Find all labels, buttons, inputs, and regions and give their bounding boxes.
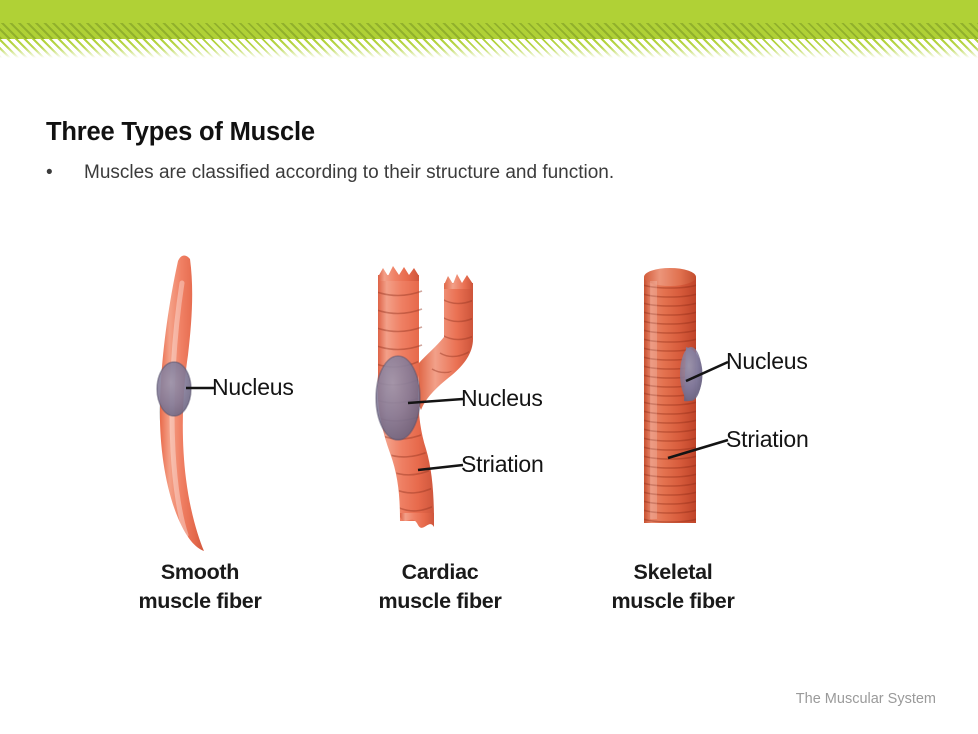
caption-skeletal-line2: muscle fiber bbox=[543, 587, 803, 616]
caption-cardiac-line1: Cardiac bbox=[310, 558, 570, 587]
caption-skeletal: Skeletal muscle fiber bbox=[543, 558, 803, 616]
caption-skeletal-line1: Skeletal bbox=[543, 558, 803, 587]
slide-footer-label: The Muscular System bbox=[796, 691, 936, 707]
cardiac-wavy-bottom bbox=[400, 513, 434, 528]
smooth-muscle-fiber-illustration bbox=[120, 255, 400, 555]
slide-canvas: Three Types of Muscle • Muscles are clas… bbox=[0, 0, 978, 734]
fiber-group-skeletal: Nucleus Striation bbox=[630, 255, 930, 560]
page-title: Three Types of Muscle bbox=[46, 118, 315, 147]
header-solid-green-bar bbox=[0, 0, 978, 23]
caption-smooth: Smooth muscle fiber bbox=[70, 558, 330, 616]
skeletal-muscle-fiber-illustration bbox=[630, 255, 930, 555]
bullet-marker-icon: • bbox=[46, 160, 84, 186]
bullet-item-text: Muscles are classified according to thei… bbox=[84, 160, 614, 186]
label-smooth-nucleus: Nucleus bbox=[212, 374, 294, 401]
cardiac-torn-top-branch bbox=[444, 274, 473, 289]
label-skeletal-nucleus: Nucleus bbox=[726, 348, 808, 375]
label-skeletal-striation: Striation bbox=[726, 426, 809, 453]
header-green-diagonal-stripes bbox=[0, 23, 978, 39]
label-cardiac-nucleus: Nucleus bbox=[461, 385, 543, 412]
fiber-group-cardiac: Nucleus Striation bbox=[360, 255, 660, 560]
header-decorative-band bbox=[0, 0, 978, 58]
muscle-types-figure: Nucleus bbox=[0, 255, 978, 635]
label-cardiac-striation: Striation bbox=[461, 451, 544, 478]
caption-cardiac: Cardiac muscle fiber bbox=[310, 558, 570, 616]
fiber-group-smooth: Nucleus bbox=[120, 255, 400, 560]
caption-smooth-line2: muscle fiber bbox=[70, 587, 330, 616]
header-white-diagonal-stripes bbox=[0, 39, 978, 58]
caption-cardiac-line2: muscle fiber bbox=[310, 587, 570, 616]
cardiac-torn-top-trunk bbox=[378, 266, 419, 281]
caption-smooth-line1: Smooth bbox=[70, 558, 330, 587]
bullet-list-item: • Muscles are classified according to th… bbox=[46, 160, 614, 186]
